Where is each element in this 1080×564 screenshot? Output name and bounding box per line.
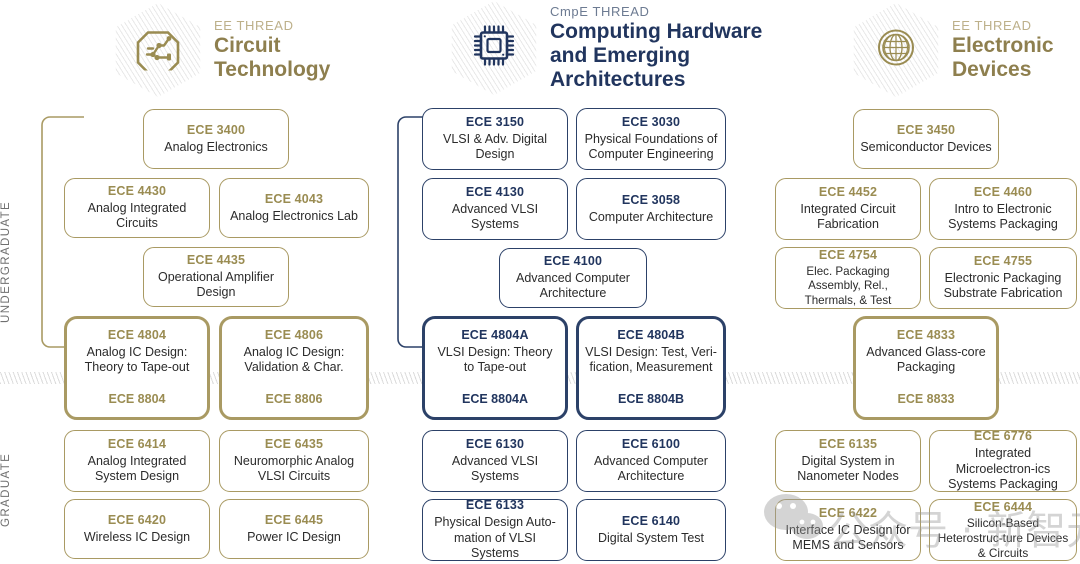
thread-header-text-computing: CmpE THREAD Computing Hardware and Emerg… xyxy=(550,4,762,92)
course-name: Intro to Electronic Systems Packaging xyxy=(936,202,1070,233)
course-code: ECE 3450 xyxy=(897,123,955,139)
course-box-ece-3030[interactable]: ECE 3030 Physical Foundations of Compute… xyxy=(576,108,726,170)
course-code: ECE 6414 xyxy=(108,437,166,453)
course-code: ECE 6420 xyxy=(108,513,166,529)
thread-header-electronic-devices: EE THREAD Electronic Devices xyxy=(848,2,1054,98)
course-name: Analog Electronics Lab xyxy=(230,209,358,225)
course-box-ece-3450[interactable]: ECE 3450 Semiconductor Devices xyxy=(853,109,999,169)
course-code: ECE 4435 xyxy=(187,253,245,269)
course-name: Analog Electronics xyxy=(164,140,268,156)
thread-title-devices: Electronic Devices xyxy=(952,34,1054,82)
microprocessor-icon xyxy=(470,22,518,75)
course-box-ece-4755[interactable]: ECE 4755 Electronic Packaging Substrate … xyxy=(929,247,1077,309)
course-box-ece-4833[interactable]: ECE 4833 Advanced Glass-core Packaging E… xyxy=(853,316,999,420)
course-name: VLSI Design: Theory to Tape-out xyxy=(431,345,559,376)
course-name: VLSI Design: Test, Veri-fication, Measur… xyxy=(585,345,717,376)
thread-title-line1: Circuit xyxy=(214,34,330,58)
course-name: Elec. Packaging Assembly, Rel., Thermals… xyxy=(782,265,914,308)
course-box-ece-3400[interactable]: ECE 3400 Analog Electronics xyxy=(143,109,289,169)
course-name: Computer Architecture xyxy=(589,210,713,226)
course-code: ECE 4804 xyxy=(108,328,166,344)
course-grad-code: ECE 8833 xyxy=(856,392,996,406)
course-name: Advanced Computer Architecture xyxy=(583,454,719,485)
course-box-ece-6130[interactable]: ECE 6130 Advanced VLSI Systems xyxy=(422,430,568,492)
course-code: ECE 4755 xyxy=(974,254,1032,270)
course-box-ece-4043[interactable]: ECE 4043 Analog Electronics Lab xyxy=(219,178,369,238)
circuit-chip-icon xyxy=(135,25,181,76)
course-box-ece-4460[interactable]: ECE 4460 Intro to Electronic Systems Pac… xyxy=(929,178,1077,240)
course-name: Advanced VLSI Systems xyxy=(429,202,561,233)
course-name: Advanced Computer Architecture xyxy=(506,271,640,302)
course-box-ece-6435[interactable]: ECE 6435 Neuromorphic Analog VLSI Circui… xyxy=(219,430,369,492)
course-name: Integrated Circuit Fabrication xyxy=(782,202,914,233)
course-name: Analog Integrated Circuits xyxy=(71,201,203,232)
course-code: ECE 4806 xyxy=(265,328,323,344)
course-name: Electronic Packaging Substrate Fabricati… xyxy=(936,271,1070,302)
course-name: Interface IC Design for MEMS and Sensors xyxy=(782,523,914,554)
thread-header-circuit-technology: EE THREAD Circuit Technology xyxy=(110,2,330,98)
thread-title-line2: and Emerging xyxy=(550,44,762,68)
course-grad-code: ECE 8804 xyxy=(67,392,207,406)
course-box-ece-6420[interactable]: ECE 6420 Wireless IC Design xyxy=(64,499,210,559)
thread-kicker-computing: CmpE THREAD xyxy=(550,4,762,19)
course-grad-code: ECE 8804A xyxy=(425,392,565,406)
course-box-ece-6135[interactable]: ECE 6135 Digital System in Nanometer Nod… xyxy=(775,430,921,492)
thread-title-line2: Devices xyxy=(952,58,1054,82)
thread-icon-hex-devices xyxy=(848,2,944,98)
course-name: Analog IC Design: Theory to Tape-out xyxy=(73,345,201,376)
thread-header-computing-hardware: CmpE THREAD Computing Hardware and Emerg… xyxy=(446,0,762,96)
course-code: ECE 6140 xyxy=(622,514,680,530)
course-name: Operational Amplifier Design xyxy=(150,270,282,301)
rail-label-undergraduate: UNDERGRADUATE xyxy=(0,162,26,362)
course-name: Advanced VLSI Systems xyxy=(429,454,561,485)
thread-map-canvas: UNDERGRADUATE GRADUATE EE THREAD xyxy=(0,0,1080,564)
course-name: Silicon-Based Heterostruc-ture Devices &… xyxy=(936,516,1070,560)
course-code: ECE 4460 xyxy=(974,185,1032,201)
thread-title-line1: Electronic xyxy=(952,34,1054,58)
course-code: ECE 4130 xyxy=(466,185,524,201)
course-code: ECE 6435 xyxy=(265,437,323,453)
course-code: ECE 4804B xyxy=(617,328,684,344)
thread-icon-hex-computing xyxy=(446,0,542,96)
course-name: Digital System Test xyxy=(598,531,704,547)
course-code: ECE 3058 xyxy=(622,193,680,209)
course-box-ece-4804a[interactable]: ECE 4804A VLSI Design: Theory to Tape-ou… xyxy=(422,316,568,420)
course-name: Physical Design Auto-mation of VLSI Syst… xyxy=(429,515,561,562)
course-code: ECE 4043 xyxy=(265,192,323,208)
course-box-ece-6100[interactable]: ECE 6100 Advanced Computer Architecture xyxy=(576,430,726,492)
course-name: Semiconductor Devices xyxy=(860,140,991,156)
course-box-ece-4754[interactable]: ECE 4754 Elec. Packaging Assembly, Rel.,… xyxy=(775,247,921,309)
thread-title-line1: Computing Hardware xyxy=(550,20,762,44)
course-box-ece-6444[interactable]: ECE 6444 Silicon-Based Heterostruc-ture … xyxy=(929,499,1077,561)
course-name: Integrated Microelectron-ics Systems Pac… xyxy=(936,446,1070,493)
course-code: ECE 6100 xyxy=(622,437,680,453)
thread-header-text-devices: EE THREAD Electronic Devices xyxy=(952,18,1054,82)
course-code: ECE 4833 xyxy=(897,328,955,344)
thread-title-line2: Technology xyxy=(214,58,330,82)
course-box-ece-6445[interactable]: ECE 6445 Power IC Design xyxy=(219,499,369,559)
course-box-ece-6776[interactable]: ECE 6776 Integrated Microelectron-ics Sy… xyxy=(929,430,1077,492)
course-box-ece-4130[interactable]: ECE 4130 Advanced VLSI Systems xyxy=(422,178,568,240)
course-code: ECE 3150 xyxy=(466,115,524,131)
course-box-ece-6422[interactable]: ECE 6422 Interface IC Design for MEMS an… xyxy=(775,499,921,561)
thread-title-computing: Computing Hardware and Emerging Architec… xyxy=(550,20,762,92)
course-box-ece-3058[interactable]: ECE 3058 Computer Architecture xyxy=(576,178,726,240)
course-box-ece-4435[interactable]: ECE 4435 Operational Amplifier Design xyxy=(143,247,289,307)
course-code: ECE 6130 xyxy=(466,437,524,453)
course-grad-code: ECE 8804B xyxy=(579,392,723,406)
course-box-ece-4452[interactable]: ECE 4452 Integrated Circuit Fabrication xyxy=(775,178,921,240)
thread-title-line3: Architectures xyxy=(550,68,762,92)
course-name: Physical Foundations of Computer Enginee… xyxy=(583,132,719,163)
globe-sphere-icon xyxy=(872,24,920,77)
course-code: ECE 3030 xyxy=(622,115,680,131)
course-code: ECE 6422 xyxy=(819,506,877,522)
course-box-ece-4804b[interactable]: ECE 4804B VLSI Design: Test, Veri-ficati… xyxy=(576,316,726,420)
course-name: Wireless IC Design xyxy=(84,530,190,546)
course-name: Analog Integrated System Design xyxy=(71,454,203,485)
thread-icon-hex-circuit xyxy=(110,2,206,98)
course-code: ECE 4804A xyxy=(461,328,528,344)
course-box-ece-6140[interactable]: ECE 6140 Digital System Test xyxy=(576,499,726,561)
course-box-ece-4100[interactable]: ECE 4100 Advanced Computer Architecture xyxy=(499,248,647,308)
course-box-ece-6133[interactable]: ECE 6133 Physical Design Auto-mation of … xyxy=(422,499,568,561)
course-code: ECE 6135 xyxy=(819,437,877,453)
thread-header-text-circuit: EE THREAD Circuit Technology xyxy=(214,18,330,82)
thread-title-circuit: Circuit Technology xyxy=(214,34,330,82)
course-name: Neuromorphic Analog VLSI Circuits xyxy=(226,454,362,485)
course-box-ece-3150[interactable]: ECE 3150 VLSI & Adv. Digital Design xyxy=(422,108,568,170)
course-box-ece-4430[interactable]: ECE 4430 Analog Integrated Circuits xyxy=(64,178,210,238)
course-box-ece-4806[interactable]: ECE 4806 Analog IC Design: Validation & … xyxy=(219,316,369,420)
course-code: ECE 4430 xyxy=(108,184,166,200)
course-code: ECE 6776 xyxy=(974,429,1032,445)
course-code: ECE 6445 xyxy=(265,513,323,529)
course-code: ECE 6133 xyxy=(466,498,524,514)
course-code: ECE 4754 xyxy=(819,248,877,264)
course-grad-code: ECE 8806 xyxy=(222,392,366,406)
course-code: ECE 4452 xyxy=(819,185,877,201)
thread-kicker-devices: EE THREAD xyxy=(952,18,1054,33)
rail-label-graduate: GRADUATE xyxy=(0,420,26,560)
course-name: Advanced Glass-core Packaging xyxy=(862,345,990,376)
course-box-ece-6414[interactable]: ECE 6414 Analog Integrated System Design xyxy=(64,430,210,492)
course-name: VLSI & Adv. Digital Design xyxy=(429,132,561,163)
course-name: Digital System in Nanometer Nodes xyxy=(782,454,914,485)
course-code: ECE 4100 xyxy=(544,254,602,270)
course-code: ECE 6444 xyxy=(974,500,1032,516)
course-name: Power IC Design xyxy=(247,530,341,546)
thread-kicker-circuit: EE THREAD xyxy=(214,18,330,33)
course-code: ECE 3400 xyxy=(187,123,245,139)
course-box-ece-4804[interactable]: ECE 4804 Analog IC Design: Theory to Tap… xyxy=(64,316,210,420)
course-name: Analog IC Design: Validation & Char. xyxy=(228,345,360,376)
